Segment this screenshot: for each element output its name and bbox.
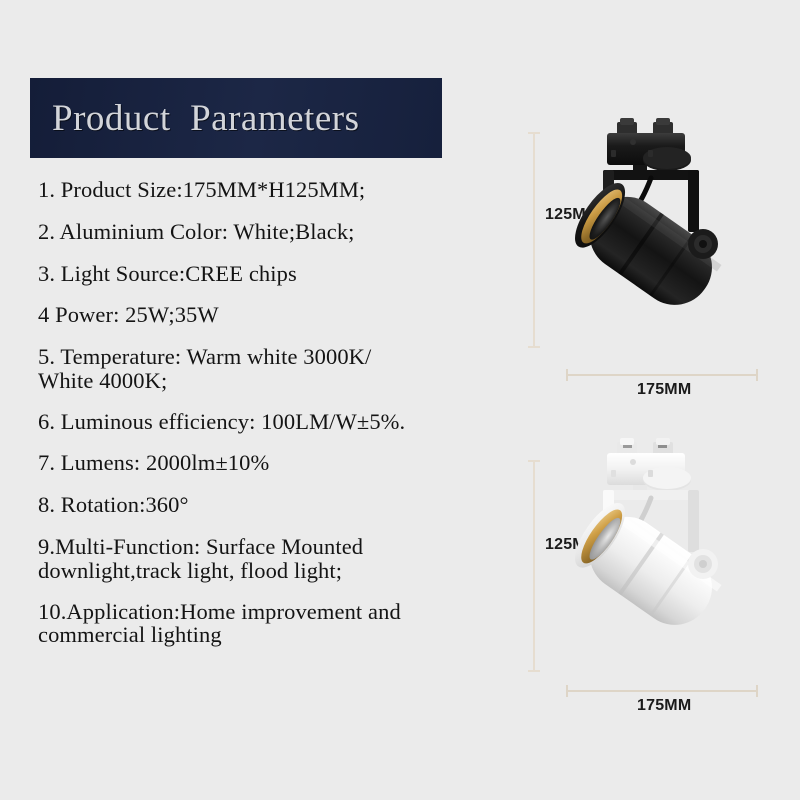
pivot-knob [688, 229, 718, 259]
product-parameters-page: Product Parameters 1. Product Size:175MM… [0, 0, 800, 800]
track-adapter-pins [617, 438, 673, 455]
spec-item-lumens: 7. Lumens: 2000lm±10% [38, 451, 538, 476]
spec-item-temperature: 5. Temperature: Warm white 3000K/ White … [38, 345, 538, 393]
track-adapter-body [607, 133, 691, 174]
white-track-light-image [545, 432, 795, 682]
white-height-dimension-line [533, 460, 535, 672]
white-width-dimension-label: 175MM [637, 697, 691, 715]
black-width-dimension-line [566, 374, 758, 376]
track-adapter-pins [617, 118, 673, 135]
spec-item-multi-function: 9.Multi-Function: Surface Mounted downli… [38, 535, 538, 583]
page-title: Product Parameters [52, 97, 359, 140]
specification-list: 1. Product Size:175MM*H125MM; 2. Alumini… [38, 178, 538, 664]
spec-item-product-size: 1. Product Size:175MM*H125MM; [38, 178, 538, 203]
spec-item-rotation: 8. Rotation:360° [38, 493, 538, 518]
pivot-knob [688, 549, 718, 579]
spec-item-aluminium-color: 2. Aluminium Color: White;Black; [38, 220, 538, 245]
white-width-dimension-line [566, 690, 758, 692]
spec-item-light-source: 3. Light Source:CREE chips [38, 262, 538, 287]
spec-item-application: 10.Application:Home improvement and comm… [38, 600, 538, 648]
page-title-banner: Product Parameters [30, 78, 442, 158]
black-height-dimension-line [533, 132, 535, 348]
track-adapter-body [607, 453, 691, 494]
spec-item-luminous-efficiency: 6. Luminous efficiency: 100LM/W±5%. [38, 410, 538, 435]
spec-item-power: 4 Power: 25W;35W [38, 303, 538, 328]
black-track-light-image [545, 112, 795, 362]
black-width-dimension-label: 175MM [637, 381, 691, 399]
